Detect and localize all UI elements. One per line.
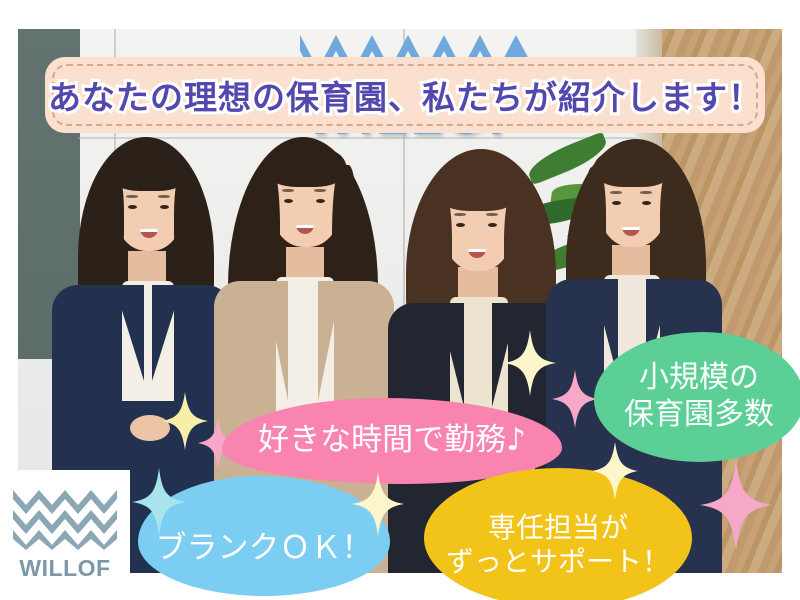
sparkle-icon <box>552 370 598 428</box>
advertisement-banner: WILLOF <box>0 0 800 600</box>
sparkle-icon <box>132 468 186 536</box>
headline-text: あなたの理想の保育園、私たちが紹介します！ <box>45 57 765 133</box>
badge-career-gap-ok-text: ブランクＯＫ！ <box>156 530 373 568</box>
badge-dedicated-support[interactable]: 専任担当が ずっとサポート！ <box>424 468 692 600</box>
willof-corner-logo: WILLOF <box>0 470 130 600</box>
sparkle-icon <box>592 442 638 500</box>
badge-flexible-hours-text: 好きな時間で勤務♪ <box>258 422 526 460</box>
sparkle-icon <box>504 330 556 396</box>
badge-small-nurseries-text: 小規模の 保育園多数 <box>624 360 774 433</box>
zigzag-wave-icon <box>13 488 117 550</box>
badge-dedicated-support-text: 専任担当が ずっとサポート！ <box>446 511 670 579</box>
willof-logo-text: WILLOF <box>19 555 110 582</box>
headline-banner: あなたの理想の保育園、私たちが紹介します！ <box>45 57 765 133</box>
sparkle-icon <box>352 472 404 536</box>
sparkle-icon <box>700 460 772 550</box>
